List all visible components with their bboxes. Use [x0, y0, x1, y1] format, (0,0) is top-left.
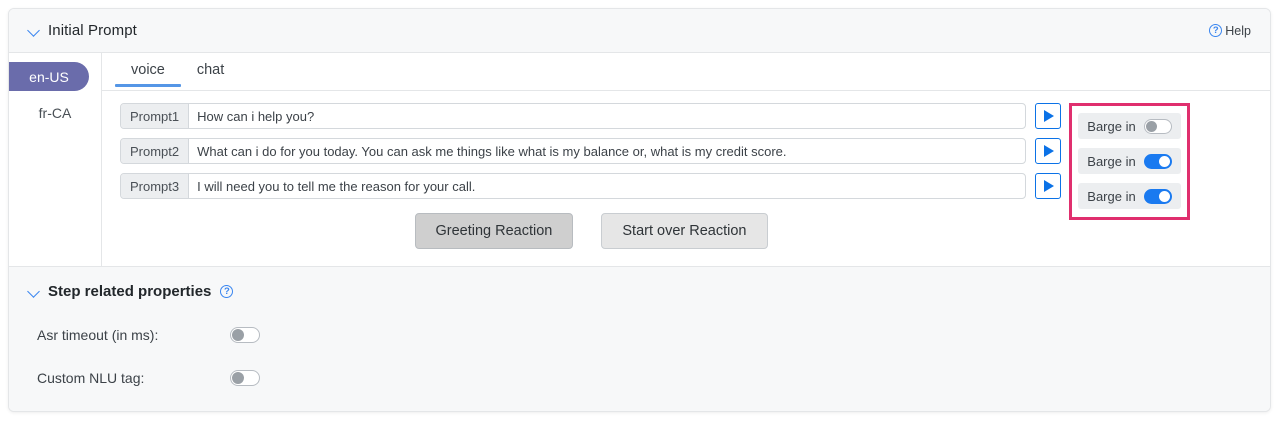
- greeting-reaction-button[interactable]: Greeting Reaction: [415, 213, 574, 249]
- play-icon[interactable]: [1035, 103, 1061, 129]
- prompt-field-group: Prompt2: [120, 138, 1026, 164]
- prompt-input[interactable]: [189, 174, 1025, 198]
- language-label: en-US: [29, 69, 69, 85]
- prompt-field-group: Prompt3: [120, 173, 1026, 199]
- language-item-en-us[interactable]: en-US: [9, 62, 89, 91]
- tab-label: voice: [131, 62, 165, 78]
- question-circle-icon[interactable]: ?: [220, 285, 233, 298]
- help-button[interactable]: ? Help: [1209, 24, 1251, 38]
- step-related-properties-section: Step related properties ? Asr timeout (i…: [9, 266, 1270, 411]
- prompt-input[interactable]: [189, 104, 1025, 128]
- step-properties-title: Step related properties: [48, 283, 211, 300]
- property-row-custom-nlu-tag: Custom NLU tag:: [9, 370, 1270, 386]
- tab-bar: voice chat: [102, 53, 1270, 91]
- language-item-fr-ca[interactable]: fr-CA: [9, 98, 101, 127]
- barge-in-chip[interactable]: Barge in: [1078, 148, 1181, 174]
- initial-prompt-card: Initial Prompt ? Help en-US fr-CA voice …: [8, 8, 1271, 412]
- asr-timeout-toggle[interactable]: [230, 327, 260, 343]
- barge-in-toggle[interactable]: [1144, 189, 1172, 204]
- toggle-knob: [1146, 121, 1157, 132]
- chevron-down-icon[interactable]: [28, 25, 40, 37]
- toggle-knob: [1159, 191, 1170, 202]
- toggle-knob: [232, 329, 244, 341]
- question-circle-icon: ?: [1209, 24, 1222, 37]
- help-label: Help: [1225, 24, 1251, 38]
- play-icon[interactable]: [1035, 173, 1061, 199]
- toggle-knob: [232, 372, 244, 384]
- prompt-label: Prompt2: [121, 139, 189, 163]
- barge-in-label: Barge in: [1087, 119, 1135, 134]
- play-triangle: [1044, 180, 1054, 192]
- property-row-asr-timeout: Asr timeout (in ms):: [9, 327, 1270, 343]
- barge-in-highlight-box: Barge in Barge in Barge in: [1069, 103, 1190, 220]
- barge-in-chip[interactable]: Barge in: [1078, 183, 1181, 209]
- barge-in-label: Barge in: [1087, 154, 1135, 169]
- barge-in-toggle[interactable]: [1144, 119, 1172, 134]
- prompt-label: Prompt1: [121, 104, 189, 128]
- property-label: Custom NLU tag:: [37, 370, 230, 386]
- section-header-initial-prompt[interactable]: Initial Prompt ? Help: [9, 9, 1270, 53]
- tab-chat[interactable]: chat: [181, 62, 240, 86]
- property-label: Asr timeout (in ms):: [37, 327, 230, 343]
- start-over-reaction-button[interactable]: Start over Reaction: [601, 213, 767, 249]
- toggle-knob: [1159, 156, 1170, 167]
- tab-label: chat: [197, 62, 224, 78]
- prompt-input[interactable]: [189, 139, 1025, 163]
- barge-in-chip[interactable]: Barge in: [1078, 113, 1181, 139]
- page-title: Initial Prompt: [48, 22, 137, 39]
- play-triangle: [1044, 145, 1054, 157]
- play-triangle: [1044, 110, 1054, 122]
- language-label: fr-CA: [39, 105, 72, 121]
- chevron-down-icon[interactable]: [28, 286, 40, 298]
- custom-nlu-tag-toggle[interactable]: [230, 370, 260, 386]
- section-header-step-properties[interactable]: Step related properties ?: [9, 267, 1270, 300]
- barge-in-label: Barge in: [1087, 189, 1135, 204]
- tab-voice[interactable]: voice: [115, 62, 181, 86]
- prompt-label: Prompt3: [121, 174, 189, 198]
- prompt-field-group: Prompt1: [120, 103, 1026, 129]
- play-icon[interactable]: [1035, 138, 1061, 164]
- barge-in-toggle[interactable]: [1144, 154, 1172, 169]
- language-list: en-US fr-CA: [9, 53, 102, 266]
